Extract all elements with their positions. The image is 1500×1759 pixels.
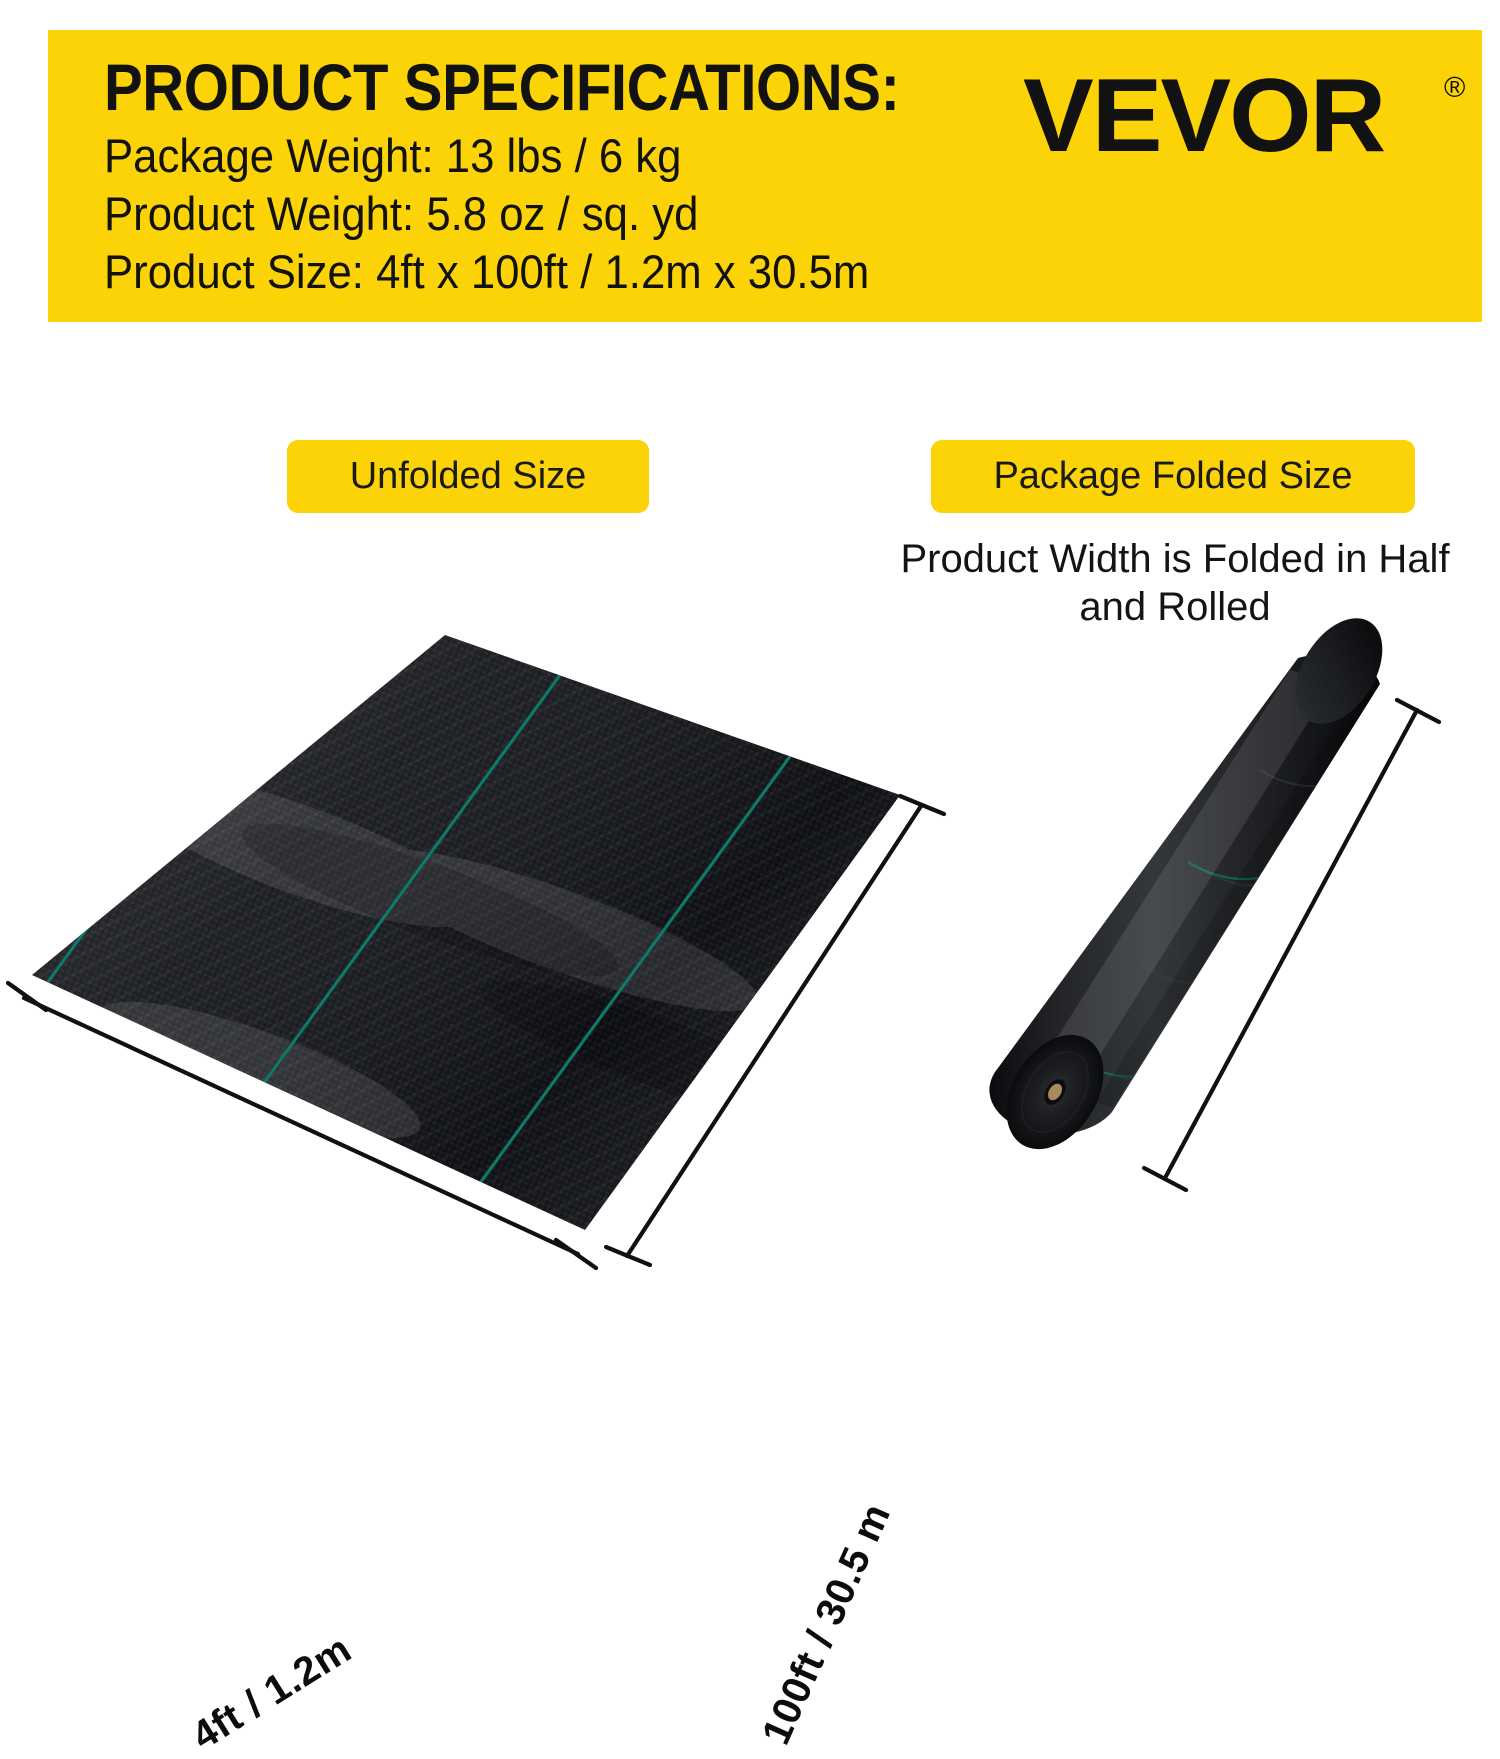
dimension-label-length: 100ft / 30.5 m: [756, 1498, 898, 1750]
fabric-sheet-graphic: [0, 600, 960, 1281]
registered-trademark-icon: ®: [1444, 74, 1465, 103]
specifications-banner: PRODUCT SPECIFICATIONS: Package Weight: …: [48, 30, 1482, 322]
product-spec-infographic: PRODUCT SPECIFICATIONS: Package Weight: …: [0, 0, 1500, 1281]
dimension-label-width: 4ft / 1.2m: [185, 1628, 357, 1756]
badge-package-folded-size: Package Folded Size: [931, 440, 1415, 513]
brand-logo: VEVOR ®: [1023, 68, 1493, 164]
brand-logo-text: VEVOR: [1023, 68, 1384, 164]
folded-roll-illustration: 2ft / 0.6m: [960, 600, 1500, 1281]
spec-line-product-weight: Product Weight: 5.8 oz / sq. yd: [104, 186, 1386, 242]
fabric-texture-overlay: [0, 600, 960, 1281]
badge-unfolded-size: Unfolded Size: [287, 440, 649, 513]
roll-body: [987, 603, 1401, 1167]
unfolded-fabric-illustration: 4ft / 1.2m 100ft / 30.5 m: [0, 600, 960, 1281]
spec-line-product-size: Product Size: 4ft x 100ft / 1.2m x 30.5m: [104, 244, 1386, 300]
fabric-roll-graphic: [960, 600, 1500, 1281]
